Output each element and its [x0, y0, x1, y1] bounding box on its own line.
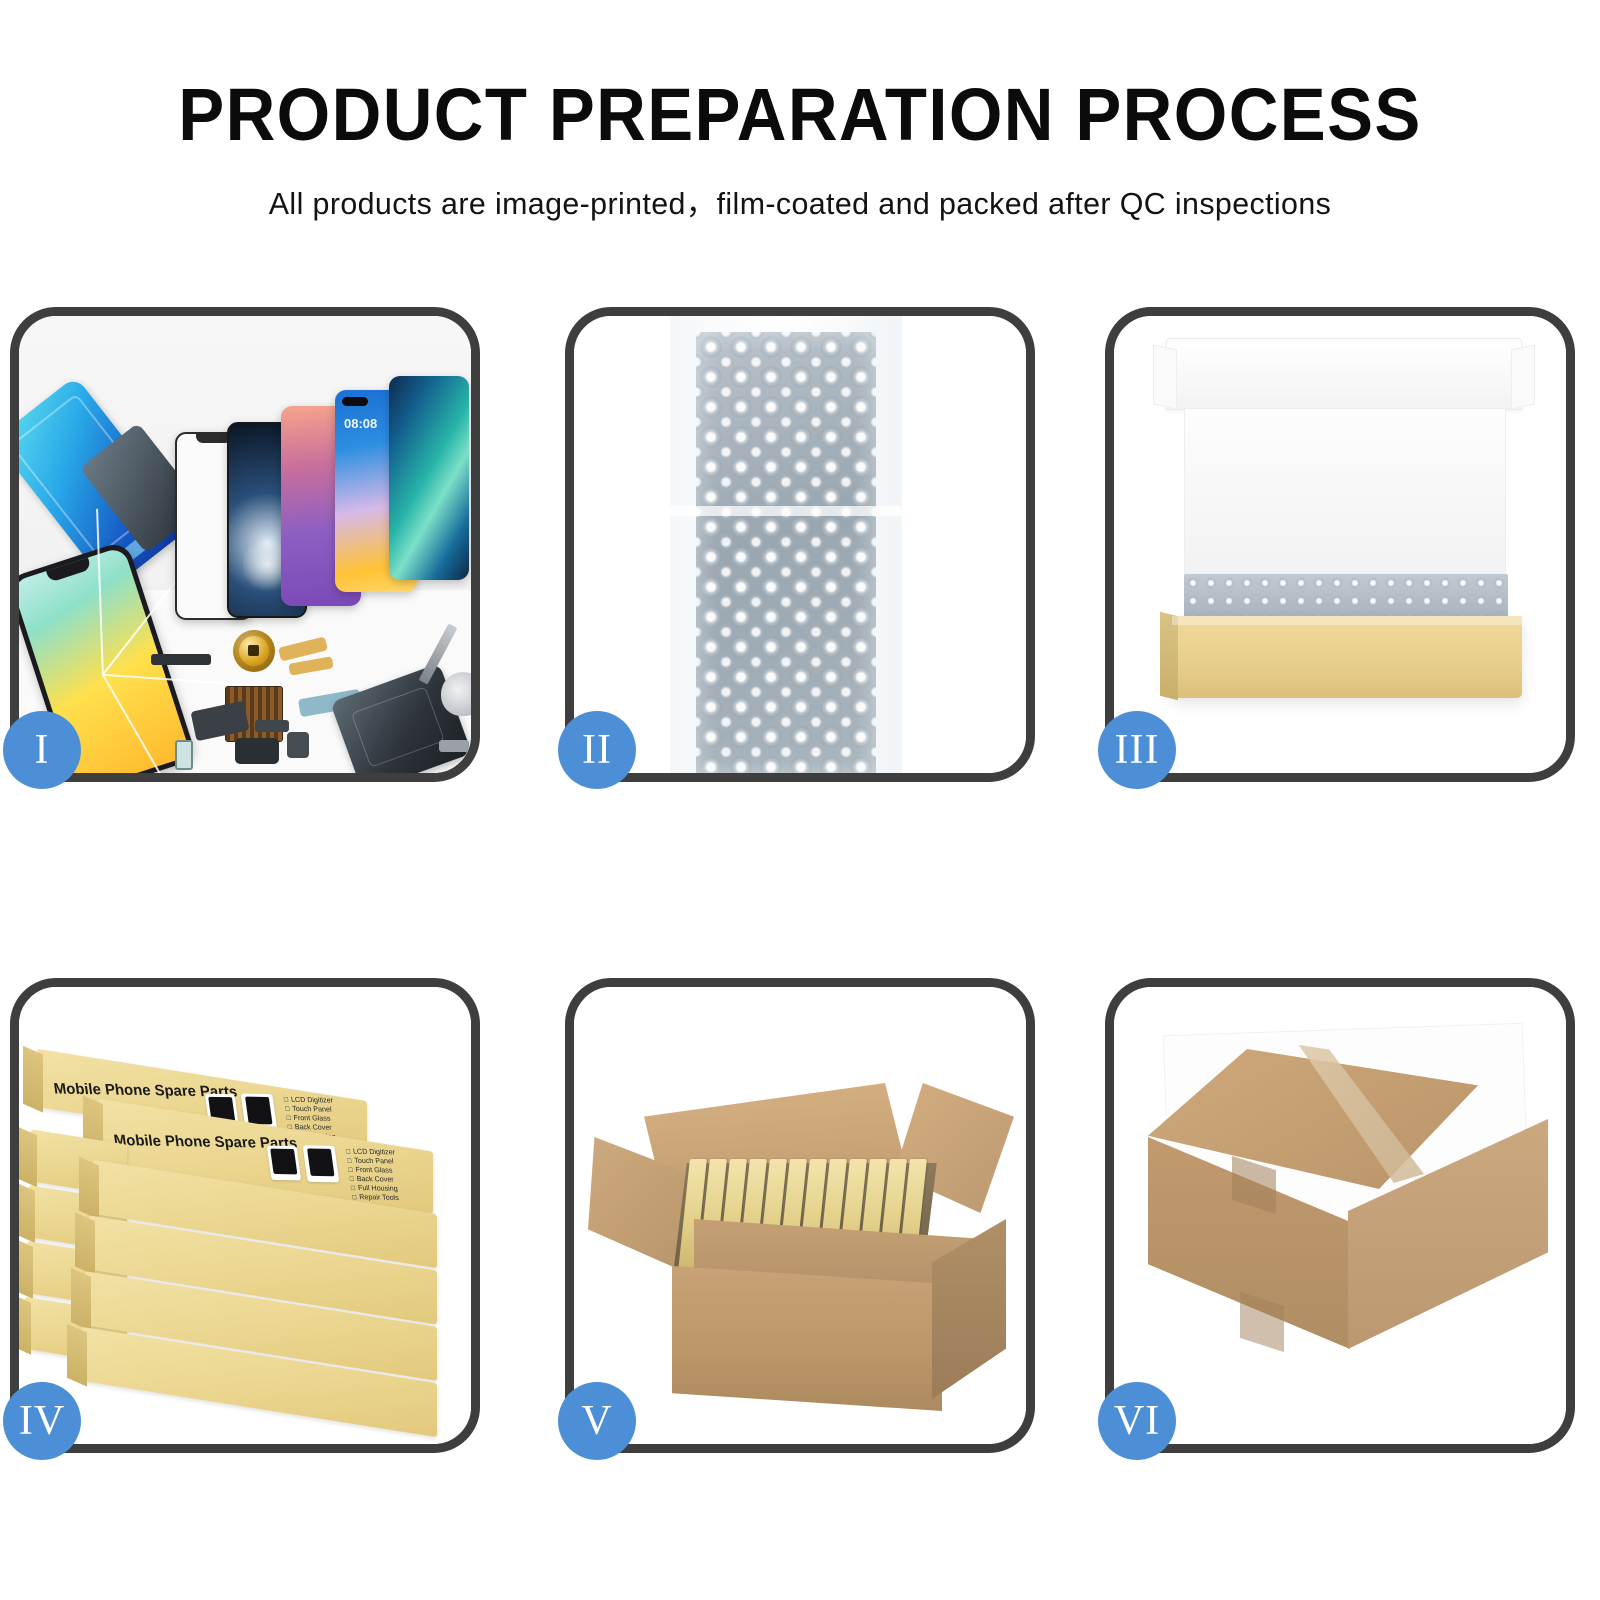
camera-module-icon: [287, 732, 309, 758]
step-card-4: Mobile Phone Spare Parts LCD Digitizer T…: [10, 978, 480, 1453]
step-badge-1: I: [3, 711, 81, 789]
step-6-image: [1114, 987, 1566, 1444]
retail-box-stack-icon: Mobile Phone Spare Parts LCD Digitizer T…: [19, 987, 471, 1444]
box-lid-icon: [1166, 338, 1522, 410]
page-title: PRODUCT PREPARATION PROCESS: [56, 78, 1544, 152]
spare-parts-collage-icon: 08:08: [19, 316, 471, 773]
step-badge-3: III: [1098, 711, 1176, 789]
carton-body-front: [672, 1263, 942, 1411]
step-1-image: 08:08: [19, 316, 471, 773]
process-steps-grid: 08:08: [10, 307, 1590, 1452]
retail-box-thumb: [303, 1145, 340, 1182]
step-card-6: VI: [1105, 978, 1575, 1453]
step-3-image: [1114, 316, 1566, 773]
screws-icon: [439, 740, 469, 752]
step-card-3: III: [1105, 307, 1575, 782]
teal-display-panel: [389, 376, 469, 580]
button-flex-icon: [255, 720, 289, 732]
bubble-sheet-icon: [696, 332, 876, 773]
box-base-icon: [1172, 616, 1522, 698]
step-card-5: V: [565, 978, 1035, 1453]
sim-tray-icon: [175, 740, 193, 770]
step-4-image: Mobile Phone Spare Parts LCD Digitizer T…: [19, 987, 471, 1444]
step-badge-4: IV: [3, 1382, 81, 1460]
open-white-box-icon: [1114, 316, 1566, 773]
speaker-coil-icon: [233, 630, 275, 672]
panel-clock-label: 08:08: [344, 416, 377, 431]
page-header: PRODUCT PREPARATION PROCESS All products…: [0, 78, 1600, 223]
plastic-bag-icon: [670, 316, 902, 773]
gold-connector-icon: [288, 656, 333, 675]
step-5-image: [574, 987, 1026, 1444]
box-inner-panel: [1184, 408, 1506, 576]
page-subtitle: All products are image-printed，film-coat…: [16, 178, 1584, 223]
step-badge-2: II: [558, 711, 636, 789]
step-badge-6: VI: [1098, 1382, 1176, 1460]
infographic-page: PRODUCT PREPARATION PROCESS All products…: [0, 0, 1600, 1600]
phone-display-fan-icon: 08:08: [169, 370, 469, 620]
sealed-carton-icon: [1114, 987, 1566, 1444]
repair-tool-icon: [441, 672, 471, 716]
open-carton-icon: [574, 987, 1026, 1444]
retail-box-thumb: [267, 1146, 301, 1181]
bubble-wrap-bag-icon: [574, 316, 1026, 773]
small-parts-group: [147, 628, 471, 773]
step-badge-5: V: [558, 1382, 636, 1460]
step-2-image: [574, 316, 1026, 773]
retail-box-checklist: LCD Digitizer Touch Panel Front Glass Ba…: [345, 1147, 402, 1203]
earpiece-strip-icon: [151, 654, 211, 665]
step-card-1: 08:08: [10, 307, 480, 782]
step-card-2: II: [565, 307, 1035, 782]
loudspeaker-icon: [235, 738, 279, 764]
